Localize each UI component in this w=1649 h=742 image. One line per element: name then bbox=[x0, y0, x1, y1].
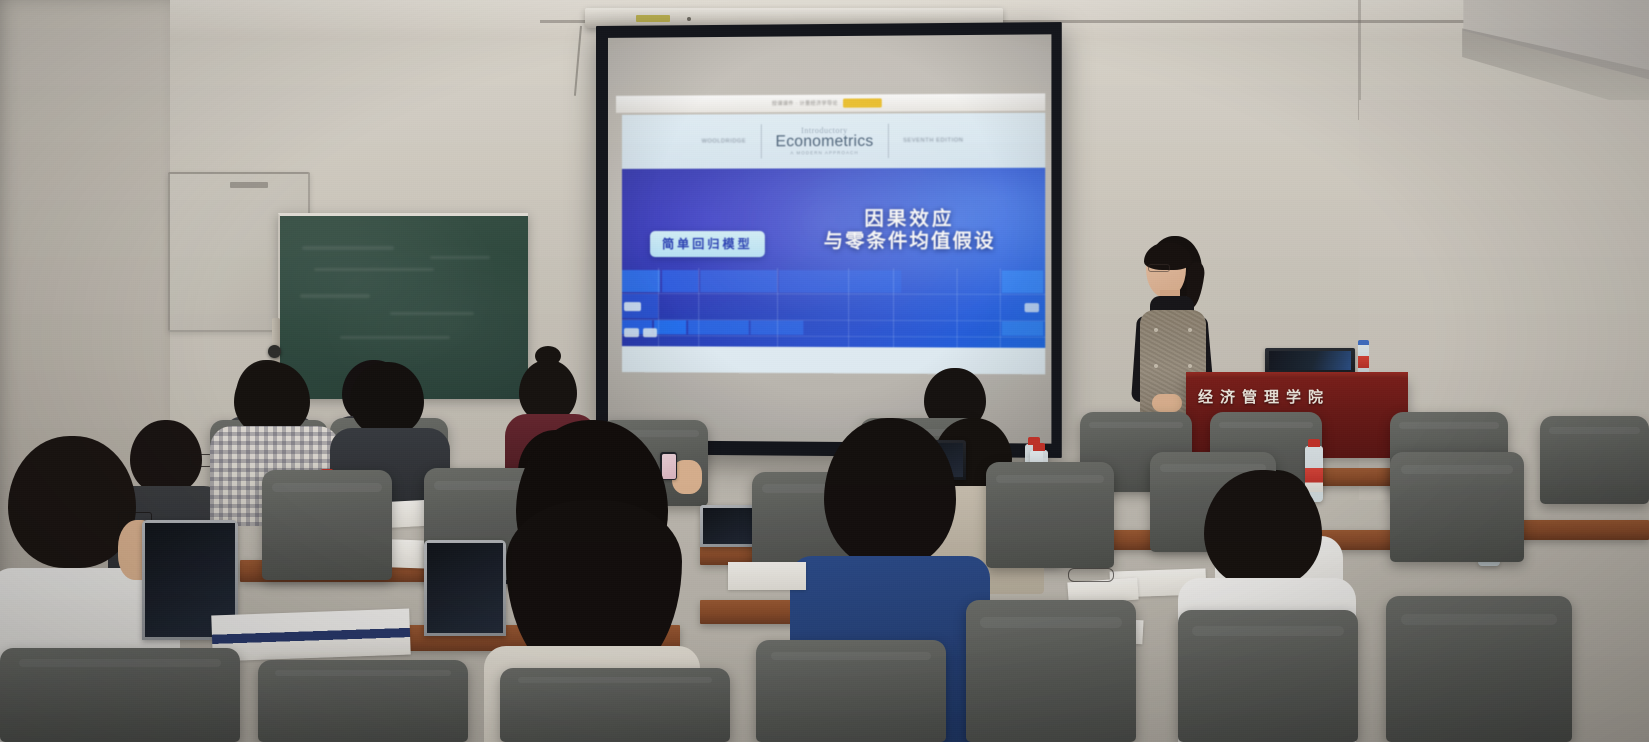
chair-back-8[interactable] bbox=[1540, 416, 1649, 504]
laptop-front-center[interactable] bbox=[424, 540, 506, 636]
handout-front-left bbox=[211, 609, 410, 662]
chair-mid-4[interactable] bbox=[986, 462, 1114, 568]
paper-front-center bbox=[728, 562, 806, 590]
lecture-hall-photo: 授课课件 · 计量经济学导论 WOOLDRIDGE Introductory bbox=[0, 0, 1649, 742]
chair-front-6[interactable] bbox=[1178, 610, 1358, 742]
chair-mid-1[interactable] bbox=[262, 470, 392, 580]
chair-front-4[interactable] bbox=[756, 640, 946, 742]
chair-front-1[interactable] bbox=[0, 648, 240, 742]
eyeglasses-on-desk bbox=[1068, 568, 1114, 582]
chair-front-3[interactable] bbox=[500, 668, 730, 742]
chair-front-5[interactable] bbox=[966, 600, 1136, 742]
chair-mid-6[interactable] bbox=[1390, 452, 1524, 562]
chair-front-7[interactable] bbox=[1386, 596, 1572, 742]
chair-front-2[interactable] bbox=[258, 660, 468, 742]
audience-area bbox=[0, 0, 1649, 742]
